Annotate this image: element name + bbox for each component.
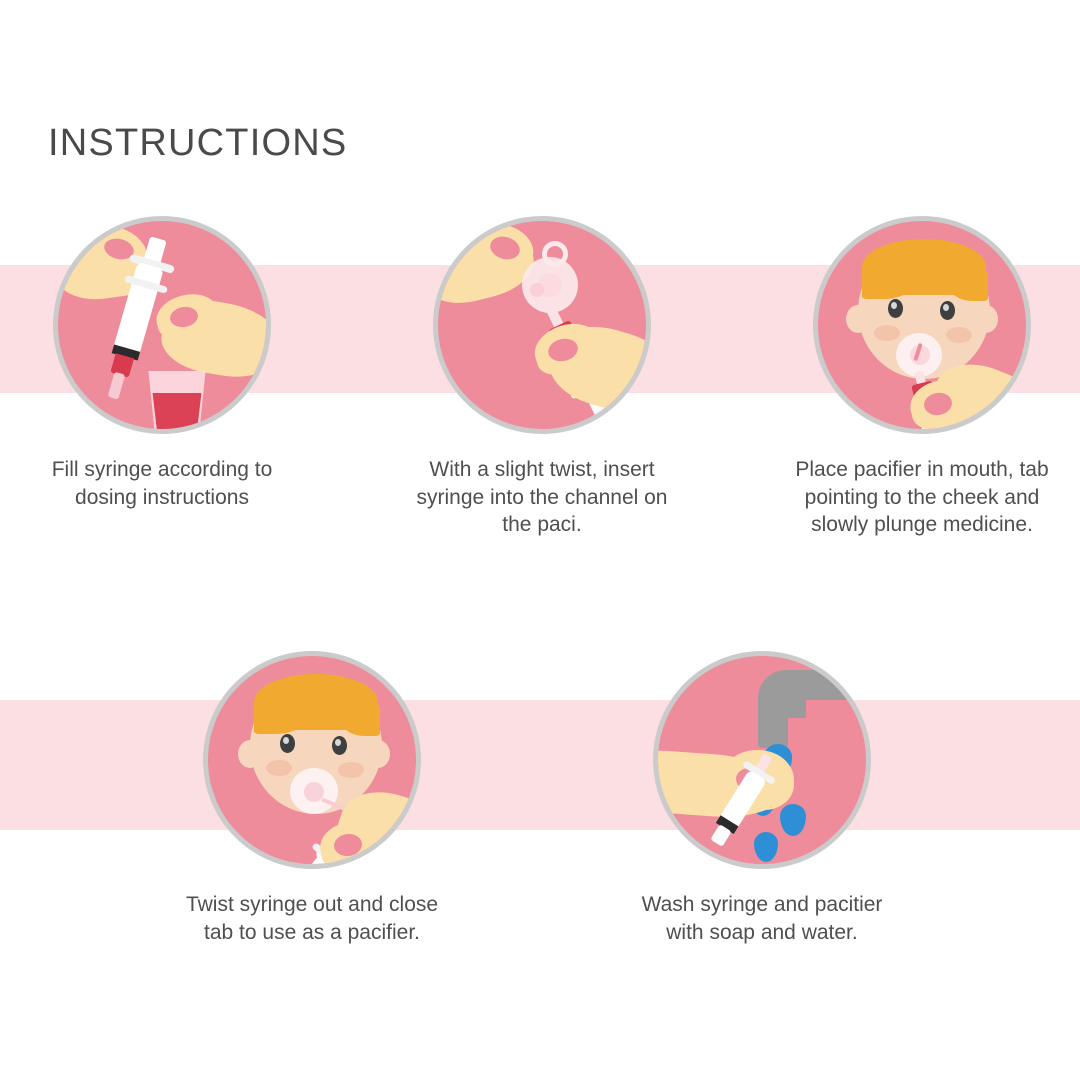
step-1-caption: Fill syringe according to dosing instruc… [32,456,292,511]
step-4: Twist syringe out and close tab to use a… [182,651,442,946]
baby-plunge-medicine-icon [818,221,1026,429]
syringe-insert-paci-icon [438,221,646,429]
step-5-caption: Wash syringe and pacitier with soap and … [632,891,892,946]
step-1: Fill syringe according to dosing instruc… [32,216,292,511]
water-drop-icon [780,804,806,836]
step-3-caption: Place pacifier in mouth, tab pointing to… [792,456,1052,539]
step-4-illustration [203,651,421,869]
step-4-caption: Twist syringe out and close tab to use a… [182,891,442,946]
syringe-fill-icon [58,221,266,429]
step-2-caption: With a slight twist, insert syringe into… [412,456,672,539]
step-2: With a slight twist, insert syringe into… [412,216,672,539]
step-5-illustration [653,651,871,869]
water-drop-icon [754,832,778,862]
baby-twist-syringe-out-icon [208,656,416,864]
step-5: Wash syringe and pacitier with soap and … [632,651,892,946]
wash-syringe-faucet-icon [658,656,866,864]
page-title: INSTRUCTIONS [48,122,347,165]
step-1-illustration [53,216,271,434]
instructions-infographic: INSTRUCTIONS [0,0,1080,1080]
decorative-band-bottom [0,700,1080,830]
step-3-illustration [813,216,1031,434]
step-3: Place pacifier in mouth, tab pointing to… [792,216,1052,539]
step-2-illustration [433,216,651,434]
